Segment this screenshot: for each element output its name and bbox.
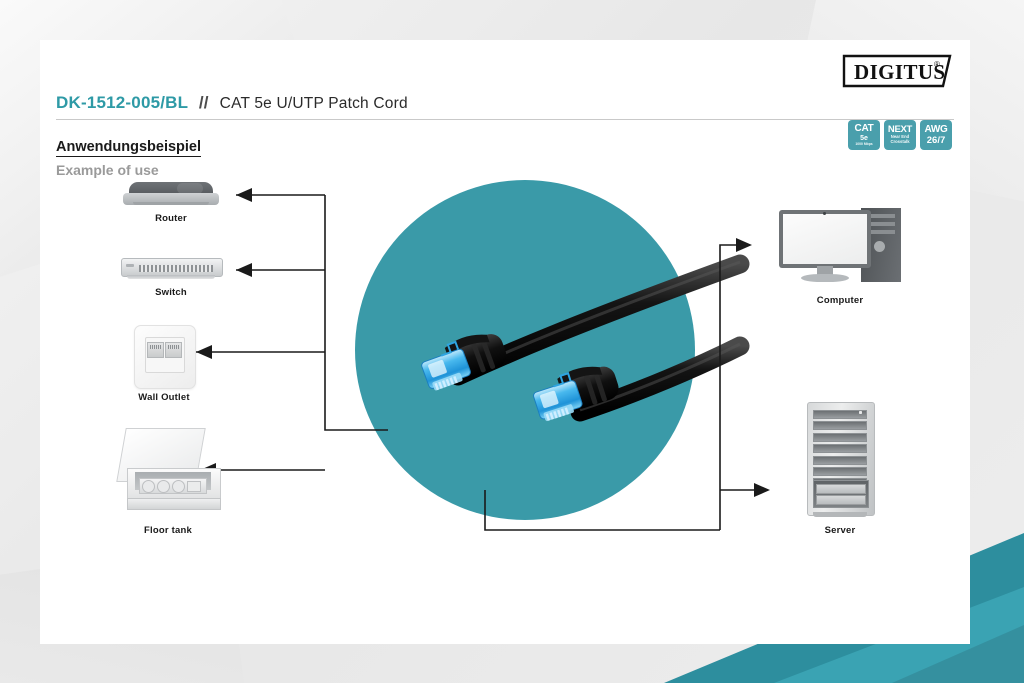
datasheet-page: DIGITUS ® DK-1512-005/BL // CAT 5e U/UTP…	[0, 0, 1024, 683]
device-label-router: Router	[112, 213, 230, 224]
device-router: Router	[112, 182, 230, 224]
application-diagram: Router Switch Wall Outlet	[40, 40, 970, 644]
device-floor-tank: Floor tank	[108, 428, 228, 536]
device-computer: Computer	[778, 208, 902, 306]
wall-outlet-icon	[134, 325, 194, 387]
computer-icon	[779, 208, 901, 290]
device-label-switch: Switch	[110, 287, 232, 298]
device-wall-outlet: Wall Outlet	[104, 325, 224, 403]
device-label-floor-tank: Floor tank	[108, 525, 228, 536]
device-label-computer: Computer	[778, 295, 902, 306]
device-switch: Switch	[110, 256, 232, 298]
content-card: DIGITUS ® DK-1512-005/BL // CAT 5e U/UTP…	[40, 40, 970, 644]
device-label-wall-outlet: Wall Outlet	[104, 392, 224, 403]
device-label-server: Server	[802, 525, 878, 536]
floor-tank-icon	[113, 428, 223, 520]
server-icon	[803, 402, 877, 520]
switch-icon	[121, 256, 221, 282]
router-icon	[123, 182, 219, 208]
device-server: Server	[802, 402, 878, 536]
